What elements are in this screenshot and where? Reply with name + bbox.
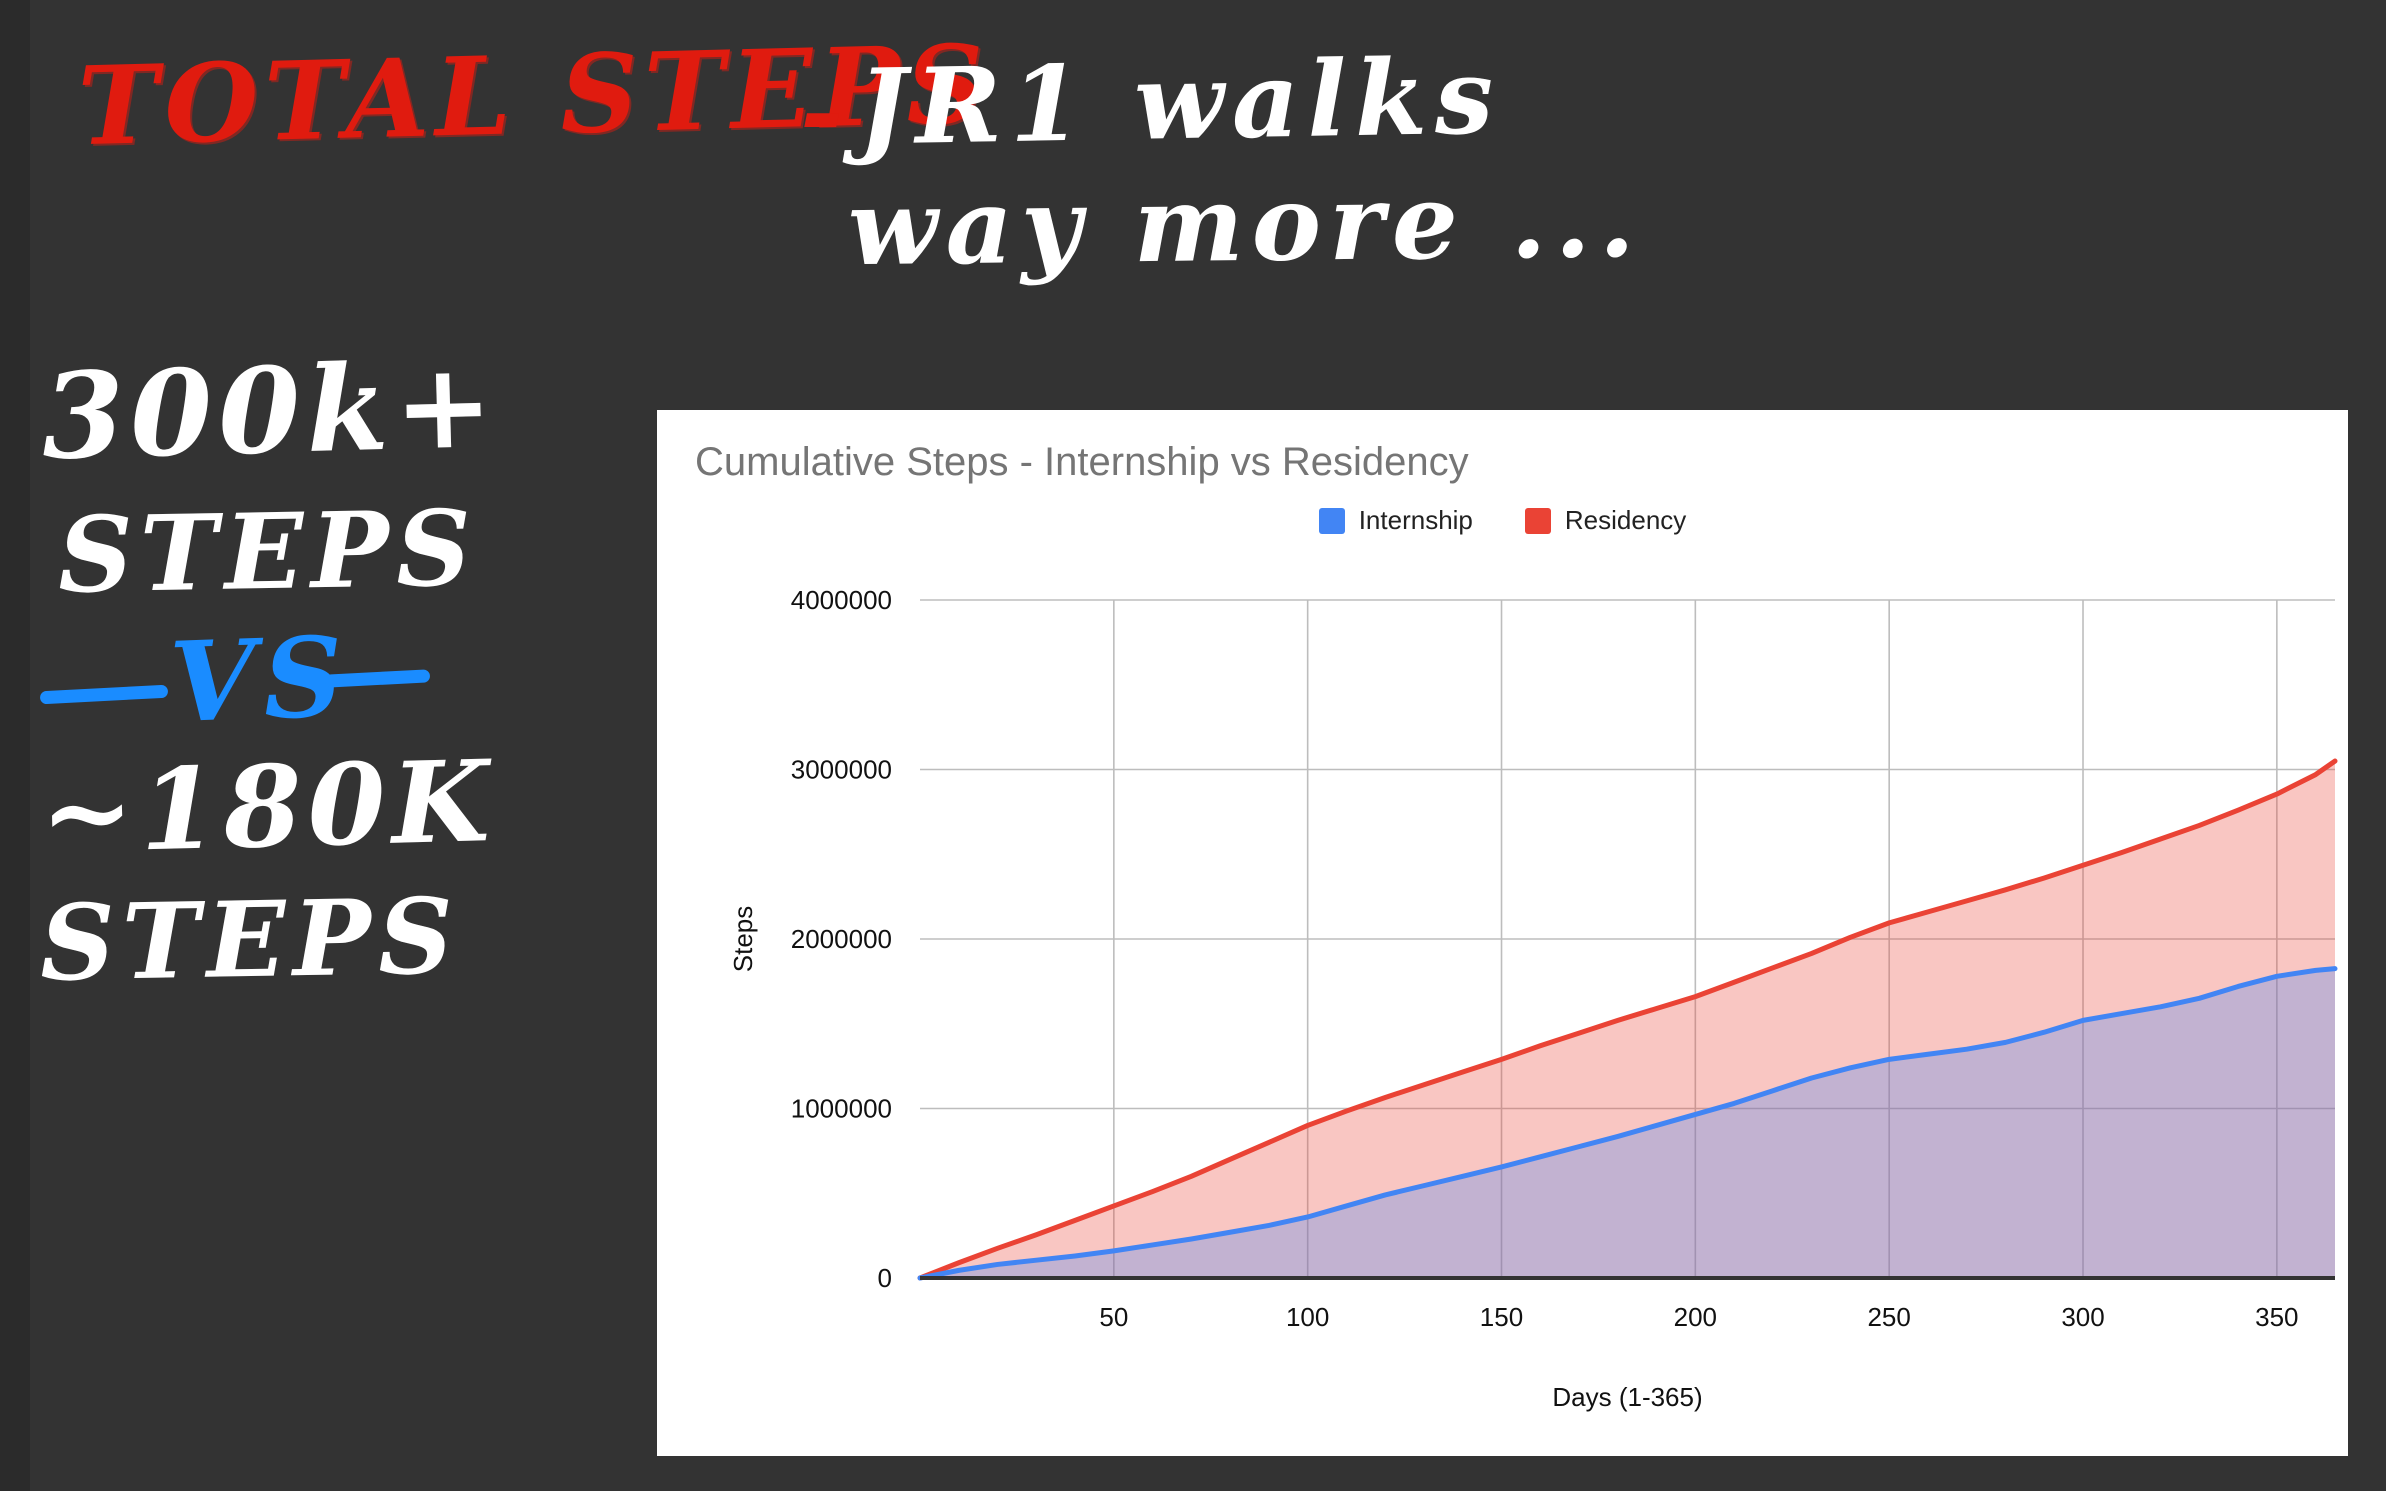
y-axis-title: Steps [728,906,758,973]
x-axis-title: Days (1-365) [1552,1382,1702,1412]
y-tick-label: 4000000 [791,585,892,615]
y-tick-label: 2000000 [791,924,892,954]
annotation-steps-upper: STEPS [57,496,479,607]
legend-item-internship[interactable]: Internship [1319,505,1473,536]
annotation-steps-lower: STEPS [39,884,461,995]
legend-swatch-residency [1525,508,1551,534]
legend-label-internship: Internship [1359,505,1473,536]
vs-rule-left [40,685,169,705]
x-tick-label: 200 [1674,1302,1717,1332]
y-tick-label: 3000000 [791,755,892,785]
legend-item-residency[interactable]: Residency [1525,505,1686,536]
y-tick-label: 1000000 [791,1094,892,1124]
chart-title: Cumulative Steps - Internship vs Residen… [695,440,1469,485]
annotation-dash: - [800,60,845,164]
plot-area: 0100000020000003000000400000050100150200… [657,558,2348,1456]
x-tick-label: 50 [1099,1302,1128,1332]
annotation-way-more: way more ... [847,168,1643,280]
annotation-total-steps: TOTAL STEPS [77,31,991,161]
x-tick-label: 100 [1286,1302,1329,1332]
annotation-180k: ~180K [39,746,497,870]
left-edge-strip [0,0,30,1491]
chart-svg: 0100000020000003000000400000050100150200… [657,558,2348,1456]
x-tick-label: 150 [1480,1302,1523,1332]
x-tick-label: 250 [1867,1302,1910,1332]
chart-legend: Internship Residency [657,505,2348,536]
x-tick-label: 300 [2061,1302,2104,1332]
annotation-jr1-walks: JR1 walks [857,44,1502,159]
x-tick-label: 350 [2255,1302,2298,1332]
legend-label-residency: Residency [1565,505,1686,536]
legend-swatch-internship [1319,508,1345,534]
y-tick-label: 0 [878,1263,892,1293]
chart-card: Cumulative Steps - Internship vs Residen… [657,410,2348,1456]
annotation-300k: 300k+ [41,346,501,476]
